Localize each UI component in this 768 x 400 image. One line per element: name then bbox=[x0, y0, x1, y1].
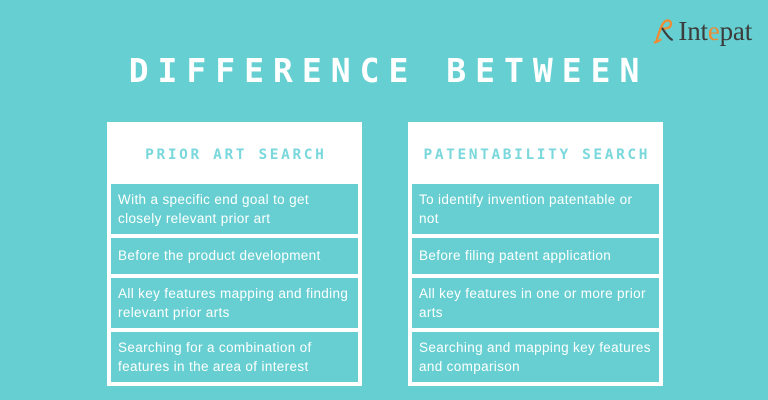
card-patentability-search: PATENTABILITY SEARCH To identify inventi… bbox=[408, 122, 663, 386]
card-header-prior-art-search: PRIOR ART SEARCH bbox=[111, 126, 358, 184]
brand-name-suffix: pat bbox=[720, 16, 752, 46]
list-item: All key features in one or more prior ar… bbox=[412, 278, 659, 328]
list-item: Searching for a combination of features … bbox=[111, 332, 358, 382]
list-item: Before the product development bbox=[111, 238, 358, 274]
brand-name-accent: e bbox=[708, 16, 720, 46]
brand-name: Intepat bbox=[678, 18, 752, 45]
list-item: With a specific end goal to get closely … bbox=[111, 184, 358, 234]
list-item: To identify invention patentable or not bbox=[412, 184, 659, 234]
infographic-canvas: Intepat DIFFERENCE BETWEEN PRIOR ART SEA… bbox=[0, 0, 768, 400]
list-item: All key features mapping and finding rel… bbox=[111, 278, 358, 328]
card-header-patentability-search: PATENTABILITY SEARCH bbox=[412, 126, 659, 184]
card-rows-prior-art-search: With a specific end goal to get closely … bbox=[111, 184, 358, 382]
list-item: Before filing patent application bbox=[412, 238, 659, 274]
card-rows-patentability-search: To identify invention patentable or not … bbox=[412, 184, 659, 382]
card-prior-art-search: PRIOR ART SEARCH With a specific end goa… bbox=[107, 122, 362, 386]
list-item: Searching and mapping key features and c… bbox=[412, 332, 659, 382]
brand-name-prefix: Int bbox=[678, 16, 707, 46]
intepat-r-monogram-icon bbox=[653, 18, 675, 44]
page-title: DIFFERENCE BETWEEN bbox=[0, 51, 768, 91]
comparison-cards: PRIOR ART SEARCH With a specific end goa… bbox=[107, 122, 663, 386]
brand-logo: Intepat bbox=[653, 14, 752, 48]
